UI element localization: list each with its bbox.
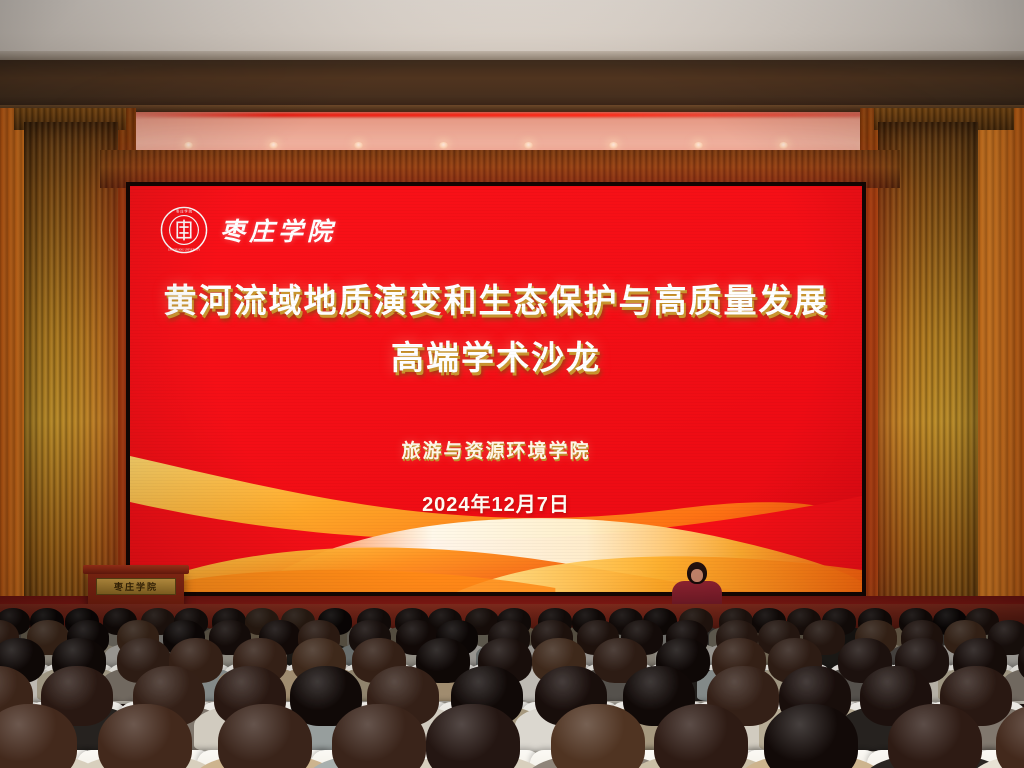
ceiling-upper-panel [0,0,1024,60]
podium-nameplate-text: 枣庄学院 [114,580,158,593]
ribbon-decoration [130,442,862,592]
downlight [439,142,448,149]
audience-member-head [218,704,312,768]
title-line-2: 高端学术沙龙 [130,335,862,382]
audience-member-head [426,704,520,768]
downlight [184,142,193,149]
svg-text:枣 庄 学 院: 枣 庄 学 院 [176,209,193,214]
left-wall-inset-slats [24,122,118,638]
audience-member-head [98,704,192,768]
university-logo-row: 枣 庄 学 院 ZAOZHUANG UNIVERSITY 枣庄学院 [160,206,336,254]
right-wall-inset-slats [878,122,978,638]
led-screen-frame: 枣 庄 学 院 ZAOZHUANG UNIVERSITY 枣庄学院 黄河流域地质… [126,182,866,596]
ceiling-dark-beam [0,60,1024,112]
podium-nameplate: 枣庄学院 [96,578,176,595]
downlight [269,142,278,149]
audience-member-head [654,704,748,768]
downlight [524,142,533,149]
audience-member-head [764,704,858,768]
presenter-face [691,569,703,582]
auditorium-scene: 枣 庄 学 院 ZAOZHUANG UNIVERSITY 枣庄学院 黄河流域地质… [0,0,1024,768]
downlight [354,142,363,149]
screen-title-block: 黄河流域地质演变和生态保护与高质量发展 高端学术沙龙 [130,278,862,382]
audience-member-head [888,704,982,768]
audience-member-head [332,704,426,768]
ceiling-red-light-strip [120,113,910,117]
led-screen: 枣 庄 学 院 ZAOZHUANG UNIVERSITY 枣庄学院 黄河流域地质… [130,186,862,592]
audience-area [0,604,1024,768]
university-name-text: 枣庄学院 [220,212,336,248]
downlight [779,142,788,149]
downlight [694,142,703,149]
podium-top-surface [83,565,189,574]
downlight [609,142,618,149]
svg-text:ZAOZHUANG UNIVERSITY: ZAOZHUANG UNIVERSITY [168,249,200,252]
title-line-1: 黄河流域地质演变和生态保护与高质量发展 [130,278,862,325]
university-seal-icon: 枣 庄 学 院 ZAOZHUANG UNIVERSITY [160,206,208,254]
audience-member-head [551,704,645,768]
